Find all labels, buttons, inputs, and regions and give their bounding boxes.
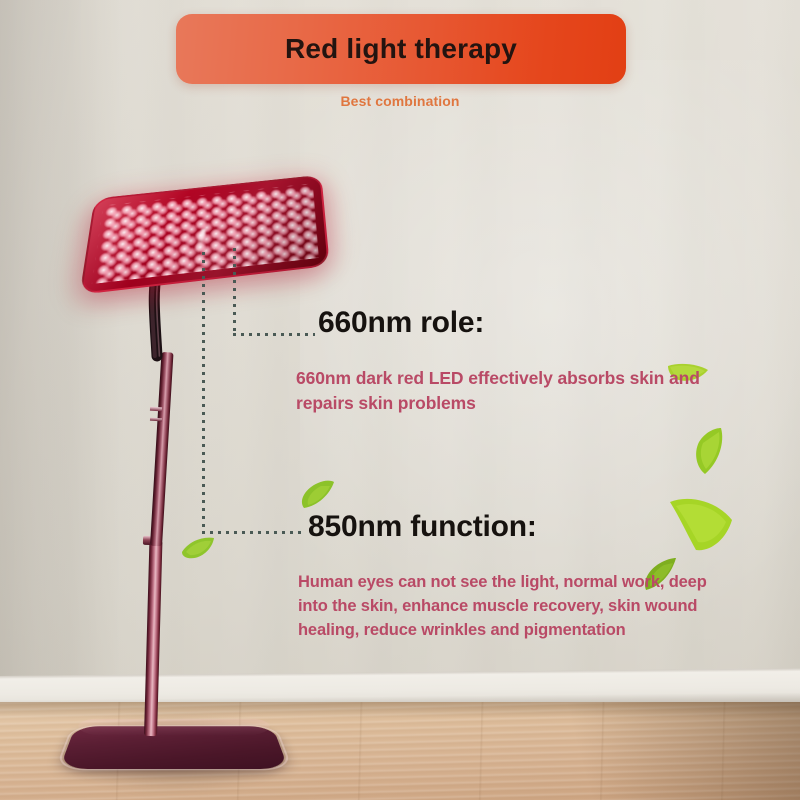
- lamp-pole-ring-lower: [150, 418, 162, 422]
- leaf-center-left: [296, 478, 338, 512]
- callout-850-heading: 850nm function:: [308, 510, 537, 544]
- led-panel-head: [88, 176, 328, 286]
- leader-line-660-vertical: [233, 248, 236, 336]
- callout-850-body: Human eyes can not see the light, normal…: [298, 571, 718, 642]
- leaf-left-small: [180, 536, 218, 562]
- leaf-right-mid: [687, 424, 729, 480]
- floor-right-shadow: [500, 702, 800, 800]
- leader-line-850-vertical: [202, 252, 205, 534]
- header-banner: Red light therapy: [176, 14, 626, 84]
- leader-line-660-horizontal: [233, 333, 315, 336]
- banner-subtitle: Best combination: [0, 93, 800, 109]
- callout-660-body: 660nm dark red LED effectively absorbs s…: [296, 366, 726, 416]
- lamp-base-rim: [55, 725, 294, 770]
- page-title: Red light therapy: [285, 33, 517, 65]
- lamp-pole-ring-upper: [150, 407, 162, 412]
- leaf-right-large: [666, 492, 738, 556]
- leader-line-850-horizontal: [202, 531, 306, 534]
- callout-660-heading: 660nm role:: [318, 306, 484, 340]
- product-marketing-scene: Red light therapy Best combination 660nm…: [0, 0, 800, 800]
